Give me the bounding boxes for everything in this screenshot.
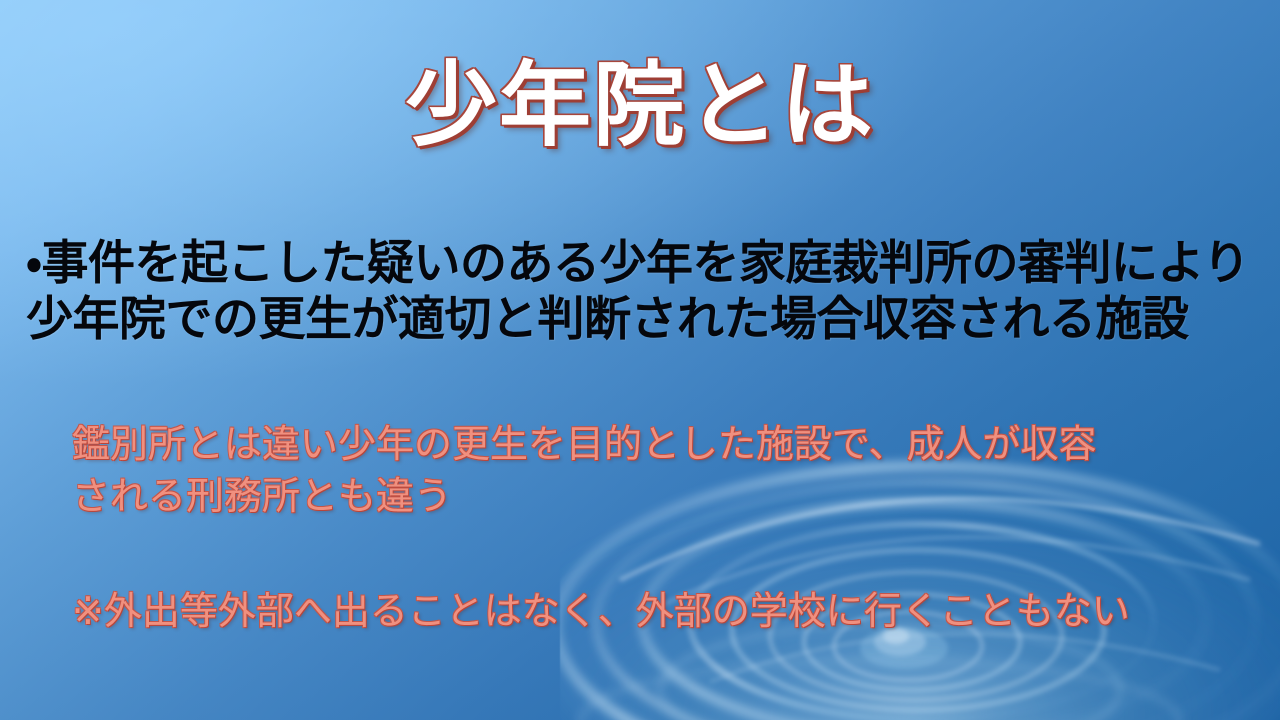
note-comparison-line-1: 鑑別所とは違い少年の更生を目的とした施設で、成人が収容 [72,418,1262,470]
slide-title-container: 少年院とは [0,56,1280,155]
note-restriction-line-1: ※外出等外部へ出ることはなく、外部の学校に行くこともない [72,585,1262,637]
body-line-1: ・事件を起こした疑いのある少年を家庭裁判所の審判により [26,236,1261,292]
body-line-2: 少年院での更生が適切と判断された場合収容される施設 [26,292,1261,348]
note-block: 鑑別所とは違い少年の更生を目的とした施設で、成人が収容 される刑務所とも違う ※… [72,418,1262,637]
slide-title: 少年院とは [405,56,875,155]
note-comparison-line-2: される刑務所とも違う [72,470,1262,522]
presentation-slide: 少年院とは ・事件を起こした疑いのある少年を家庭裁判所の審判により 少年院での更… [0,0,1280,720]
body-paragraph: ・事件を起こした疑いのある少年を家庭裁判所の審判により 少年院での更生が適切と判… [26,236,1261,349]
